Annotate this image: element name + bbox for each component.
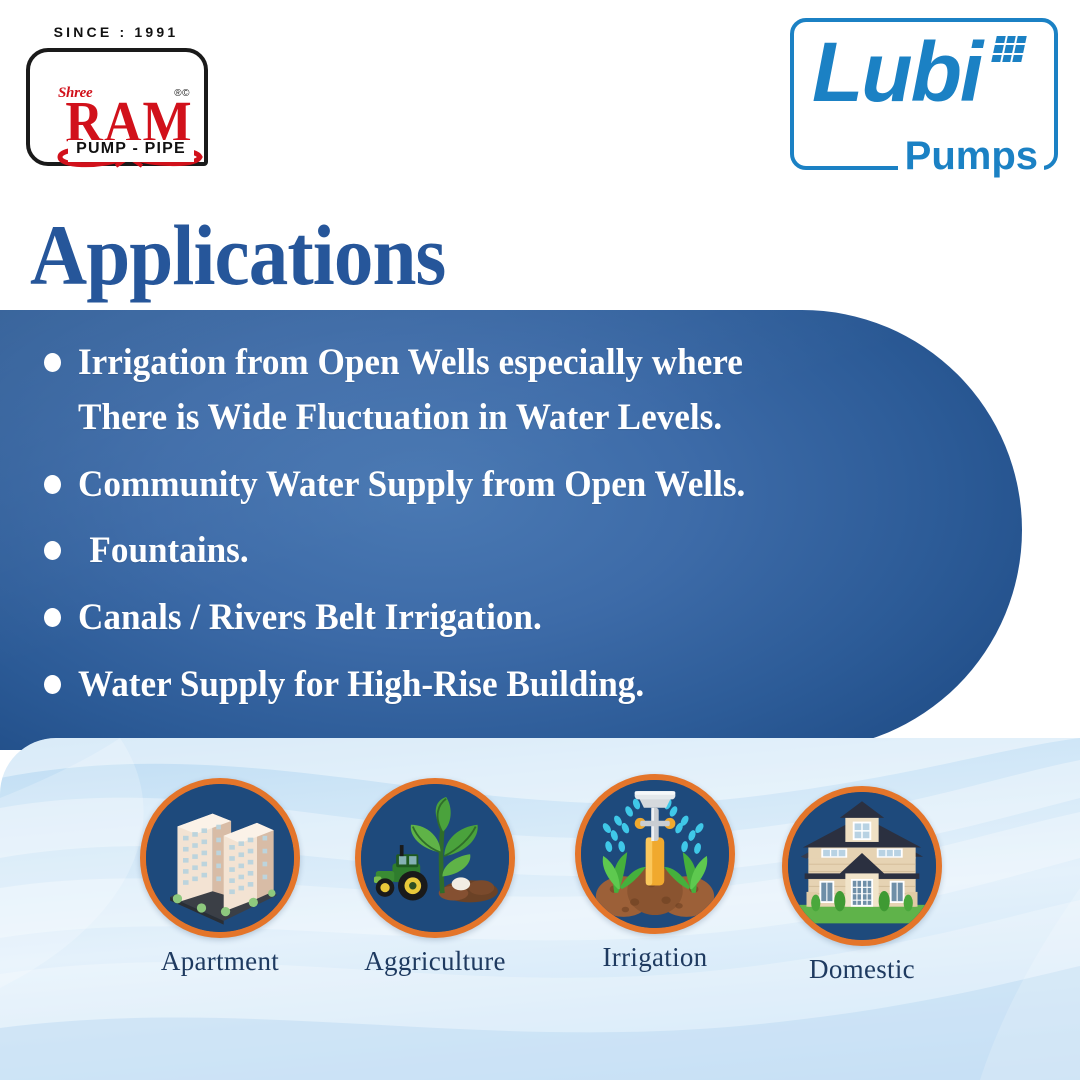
lubi-grid-dots-icon	[991, 36, 1027, 62]
pump-pipe-wrap: PUMP - PIPE	[68, 140, 194, 162]
applications-panel: Irrigation from Open Wells especially wh…	[0, 310, 1022, 750]
bullet-dot-icon	[44, 353, 61, 372]
applications-bullet-list: Irrigation from Open Wells especially wh…	[44, 336, 974, 725]
lubi-wordmark: Lubi	[812, 30, 981, 114]
house-icon	[782, 786, 942, 946]
segment-irrigation[interactable]: Irrigation	[565, 774, 745, 973]
list-item: Water Supply for High-Rise Building.	[44, 658, 974, 713]
list-item-label: Irrigation from Open Wells especially wh…	[78, 336, 743, 446]
segment-label: Irrigation	[565, 942, 745, 973]
pump-pipe-label: PUMP - PIPE	[76, 140, 186, 157]
list-item-label: Water Supply for High-Rise Building.	[78, 658, 644, 713]
bullet-dot-icon	[44, 475, 61, 494]
list-item: Canals / Rivers Belt Irrigation.	[44, 591, 974, 646]
list-item-label: Community Water Supply from Open Wells.	[78, 458, 745, 513]
applications-poster: SINCE : 1991 Shree RAM ®© PUMP - PIPE Lu…	[0, 0, 1080, 1080]
segment-apartment[interactable]: Apartment	[130, 778, 310, 977]
list-item: Community Water Supply from Open Wells.	[44, 458, 974, 513]
bullet-dot-icon	[44, 541, 61, 560]
bullet-dot-icon	[44, 608, 61, 627]
ram-logo-frame: Shree RAM ®© PUMP - PIPE	[26, 48, 208, 166]
tractor-plant-icon	[355, 778, 515, 938]
lubi-pumps-logo: Lubi Pumps	[790, 18, 1058, 170]
segment-label: Domestic	[772, 954, 952, 985]
list-item: Irrigation from Open Wells especially wh…	[44, 336, 974, 446]
application-segments: Apartment	[0, 778, 1080, 1028]
lubi-pumps-label: Pumps	[899, 136, 1044, 176]
segment-agriculture[interactable]: Aggriculture	[345, 778, 525, 977]
list-item-label: Fountains.	[78, 524, 249, 579]
trademark-label: ®©	[174, 88, 190, 99]
apartment-buildings-icon	[140, 778, 300, 938]
list-item-label: Canals / Rivers Belt Irrigation.	[78, 591, 542, 646]
sprinkler-icon	[575, 774, 735, 934]
shree-ram-logo: SINCE : 1991 Shree RAM ®© PUMP - PIPE	[16, 24, 216, 169]
segment-label: Aggriculture	[345, 946, 525, 977]
page-title: Applications	[30, 212, 445, 298]
segment-label: Apartment	[130, 946, 310, 977]
list-item: Fountains.	[44, 524, 974, 579]
segment-domestic[interactable]: Domestic	[772, 786, 952, 985]
since-label: SINCE : 1991	[16, 24, 216, 40]
bullet-dot-icon	[44, 675, 61, 694]
